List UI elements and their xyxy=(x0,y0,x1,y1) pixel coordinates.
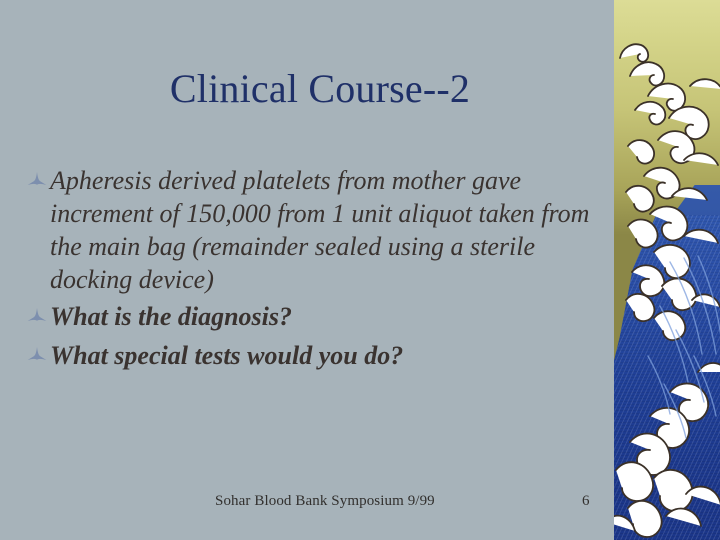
slide-title: Clinical Course--2 xyxy=(60,66,580,112)
slide-number: 6 xyxy=(582,493,590,510)
bullet-item: What is the diagnosis? xyxy=(26,300,606,337)
presentation-slide: Clinical Course--2 Apheresis derived pla… xyxy=(0,0,720,540)
tri-star-bullet-icon xyxy=(26,307,50,337)
footer-text: Sohar Blood Bank Symposium 9/99 xyxy=(215,493,435,510)
bullet-text: Apheresis derived platelets from mother … xyxy=(50,164,606,296)
hokusai-wave-decoration xyxy=(614,0,720,540)
slide-body: Apheresis derived platelets from mother … xyxy=(26,164,606,382)
bullet-item: Apheresis derived platelets from mother … xyxy=(26,164,606,296)
tri-star-bullet-icon xyxy=(26,346,50,376)
bullet-text: What is the diagnosis? xyxy=(50,300,606,333)
bullet-item: What special tests would you do? xyxy=(26,339,606,376)
bullet-text: What special tests would you do? xyxy=(50,339,606,372)
tri-star-bullet-icon xyxy=(26,171,50,201)
wave-foam-icon xyxy=(614,0,720,540)
